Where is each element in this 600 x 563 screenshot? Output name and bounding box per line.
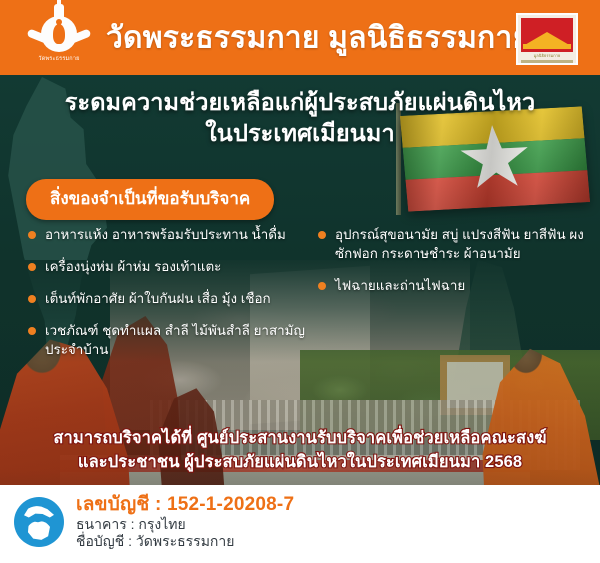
bank-account-block: เลขบัญชี : 152-1-20208-7 ธนาคาร : กรุงไท… bbox=[14, 493, 294, 550]
dhammakaya-foundation-logo: มูลนิธิธรรมกาย bbox=[516, 13, 578, 65]
page-title: วัดพระธรรมกาย มูลนิธิธรรมกาย bbox=[106, 14, 530, 61]
emblem-spire bbox=[54, 4, 64, 20]
banner-line-2: และประชาชน ผู้ประสบภัยแผ่นดินไหวในประเทศ… bbox=[0, 451, 600, 475]
list-item: เวชภัณฑ์ ชุดทำแผล สำลี ไม้พันสำลี ยาสามั… bbox=[28, 321, 328, 359]
list-item: อุปกรณ์สุขอนามัย สบู่ แปรงสีฟัน ยาสีฟัน … bbox=[318, 225, 598, 263]
main-content-panel: ระดมความช่วยเหลือแก่ผู้ประสบภัยแผ่นดินไห… bbox=[0, 75, 600, 485]
banner-line-1: สามารถบริจาคได้ที่ ศูนย์ประสานงานรับบริจ… bbox=[53, 429, 546, 447]
right-logo-caption: มูลนิธิธรรมกาย bbox=[521, 52, 573, 59]
left-logo-caption: วัดพระธรรมกาย bbox=[38, 55, 79, 63]
list-item: เครื่องนุ่งห่ม ผ้าห่ม รองเท้าแตะ bbox=[28, 257, 328, 276]
list-item: อาหารแห้ง อาหารพร้อมรับประทาน น้ำดื่ม bbox=[28, 225, 328, 244]
krungthai-bank-logo-icon bbox=[14, 497, 64, 547]
headline: ระดมความช่วยเหลือแก่ผู้ประสบภัยแผ่นดินไห… bbox=[0, 87, 600, 149]
foundation-logo-mark bbox=[521, 18, 573, 52]
headline-line-1: ระดมความช่วยเหลือแก่ผู้ประสบภัยแผ่นดินไห… bbox=[65, 89, 536, 115]
account-name: ชื่อบัญชี : วัดพระธรรมกาย bbox=[76, 533, 294, 550]
account-number: เลขบัญชี : 152-1-20208-7 bbox=[76, 493, 294, 516]
foundation-mountain-icon bbox=[523, 32, 571, 46]
right-logo-subcaption-bar bbox=[521, 60, 573, 63]
emblem-buddha-figure bbox=[53, 24, 65, 44]
donation-poster: วัดพระธรรมกาย วัดพระธรรมกาย มูลนิธิธรรมก… bbox=[0, 0, 600, 563]
list-item: เต็นท์พักอาศัย ผ้าใบกันฝน เสื่อ มุ้ง เชื… bbox=[28, 289, 328, 308]
bank-account-details: เลขบัญชี : 152-1-20208-7 ธนาคาร : กรุงไท… bbox=[76, 493, 294, 550]
temple-emblem-icon bbox=[29, 6, 89, 54]
donation-items-right-column: อุปกรณ์สุขอนามัย สบู่ แปรงสีฟัน ยาสีฟัน … bbox=[318, 225, 598, 308]
header-bar: วัดพระธรรมกาย วัดพระธรรมกาย มูลนิธิธรรมก… bbox=[0, 0, 600, 75]
needed-items-badge: สิ่งของจำเป็นที่ขอรับบริจาค bbox=[26, 179, 274, 220]
list-item: ไฟฉายและถ่านไฟฉาย bbox=[318, 276, 598, 295]
bank-name: ธนาคาร : กรุงไทย bbox=[76, 516, 294, 533]
donation-items-left-column: อาหารแห้ง อาหารพร้อมรับประทาน น้ำดื่ม เค… bbox=[28, 225, 328, 372]
wat-phra-dhammakaya-logo: วัดพระธรรมกาย bbox=[22, 6, 96, 70]
call-to-action-banner: สามารถบริจาคได้ที่ ศูนย์ประสานงานรับบริจ… bbox=[0, 427, 600, 475]
footer-bar: เลขบัญชี : 152-1-20208-7 ธนาคาร : กรุงไท… bbox=[0, 485, 600, 563]
headline-line-2: ในประเทศเมียนมา bbox=[0, 118, 600, 149]
